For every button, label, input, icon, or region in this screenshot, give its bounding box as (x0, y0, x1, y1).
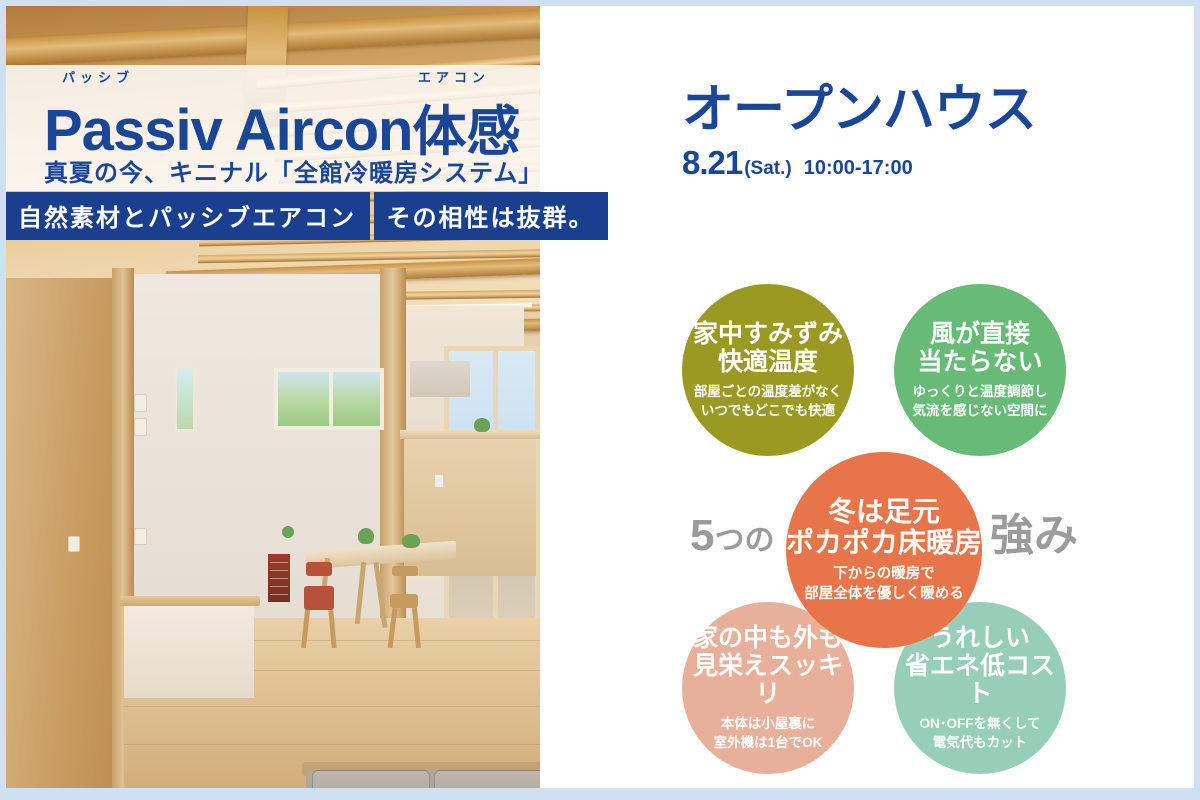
feature-subtext-line-1: 本体は小屋裏に (714, 715, 823, 733)
plant (282, 526, 294, 538)
feature-heading: 家中すみずみ 快適温度 (693, 320, 843, 376)
event-day-of-week: (Sat.) (744, 158, 792, 180)
feature-heading-line-1: 冬は足元 (786, 496, 982, 527)
event-date-row: 8.21 (Sat.) 10:00-17:00 (682, 144, 1036, 182)
light-switch (134, 418, 147, 436)
half-wall (124, 602, 254, 698)
subtitle: 真夏の今、キニナル「全館冷暖房システム」 (44, 153, 543, 188)
feature-heading-line-2: 当たらない (917, 348, 1042, 376)
feature-subtext: 本体は小屋裏に 室外機は1台でOK (714, 715, 823, 751)
feature-subtext-line-1: 部屋ごとの温度差がなく (694, 383, 842, 401)
overlay-line-1: 自然素材とパッシブエアコン (6, 192, 370, 240)
flyer-canvas: パッシブ エアコン Passiv Aircon体感 真夏の今、キニナル「全館冷暖… (6, 6, 1194, 788)
wall-outlet (434, 474, 444, 488)
wall-switch (134, 528, 147, 545)
sofa-cushion (312, 770, 430, 788)
photo-overlay-caption: 自然素材とパッシブエアコン その相性は抜群。 (6, 192, 608, 240)
feature-subtext-line-2: 室外機は1台でOK (714, 734, 823, 752)
counter-top (400, 430, 540, 439)
event-header: オープンハウス 8.21 (Sat.) 10:00-17:00 (682, 84, 1036, 182)
feature-heading-line-1: 風が直接 (917, 320, 1042, 348)
window (274, 368, 384, 430)
feature-heading-line-2: 快適温度 (693, 348, 843, 376)
feature-subtext-line-1: ON･OFFを無くして (919, 715, 1040, 733)
dining-chair (306, 562, 332, 576)
feature-circle-top-left[interactable]: 家中すみずみ 快適温度 部屋ごとの温度差がなく いつでもどこでも快適 (682, 284, 854, 456)
event-title: オープンハウス (682, 84, 1036, 136)
feature-subtext: ON･OFFを無くして 電気代もカット (919, 715, 1040, 751)
feature-subtext: 部屋ごとの温度差がなく いつでもどこでも快適 (694, 383, 842, 419)
event-time: 10:00-17:00 (804, 157, 913, 180)
feature-circle-top-right[interactable]: 風が直接 当たらない ゆっくりと温度調節し 気流を感じない空間に (894, 284, 1066, 456)
feature-subtext-line-2: 気流を感じない空間に (913, 402, 1048, 420)
ruby-row: パッシブ エアコン (44, 67, 644, 87)
feature-heading-line-2: 見栄えスッキリ (682, 652, 854, 708)
overlay-line-2: その相性は抜群。 (374, 192, 608, 240)
label-five-points: 5つの (690, 514, 774, 558)
event-date: 8.21 (682, 144, 742, 182)
feature-heading: 冬は足元 ポカポカ床暖房 (786, 496, 982, 559)
feature-heading-line-2: 省エネ低コスト (894, 652, 1066, 708)
feature-subtext: ゆっくりと温度調節し 気流を感じない空間に (913, 383, 1048, 419)
feature-heading-line-1: 家中すみずみ (693, 320, 843, 348)
table-plant (358, 528, 374, 544)
plant (474, 418, 490, 432)
feature-subtext-line-2: 部屋全体を優しく暖める (804, 585, 964, 605)
feature-subtext-line-1: ゆっくりと温度調節し (913, 383, 1048, 401)
kitchen-window (174, 366, 196, 432)
half-wall-cap (120, 596, 260, 606)
light-switch (134, 394, 147, 412)
feature-heading: 風が直接 当たらない (917, 320, 1042, 376)
label-five-number: 5 (690, 511, 714, 560)
dining-chair (304, 586, 334, 610)
ruby-passive: パッシブ (62, 67, 134, 86)
feature-heading: 家の中も外も 見栄えスッキリ (682, 624, 854, 708)
features-diagram: 5つの 強み 家中すみずみ 快適温度 部屋ごとの温度差がなく いつでもどこでも快… (606, 256, 1194, 788)
label-strengths: 強み (990, 514, 1078, 558)
feature-subtext-line-2: 電気代もカット (919, 734, 1040, 752)
wall-outlet (68, 536, 80, 552)
feature-circle-center[interactable]: 冬は足元 ポカポカ床暖房 下からの暖房で 部屋全体を優しく暖める (786, 452, 982, 648)
sofa-cushion (434, 770, 540, 788)
dining-chair (390, 594, 418, 608)
feature-subtext-line-1: 下からの暖房で (804, 565, 964, 585)
range-hood (410, 361, 470, 397)
feature-subtext-line-2: いつでもどこでも快適 (694, 402, 842, 420)
dining-chair (392, 566, 418, 576)
feature-heading-line-2: ポカポカ床暖房 (786, 527, 982, 558)
ruby-aircon: エアコン (418, 67, 490, 86)
table-plant (402, 534, 420, 548)
label-five-suffix: つの (714, 524, 774, 557)
feature-subtext: 下からの暖房で 部屋全体を優しく暖める (804, 565, 964, 604)
storage-cabinet (268, 554, 290, 602)
